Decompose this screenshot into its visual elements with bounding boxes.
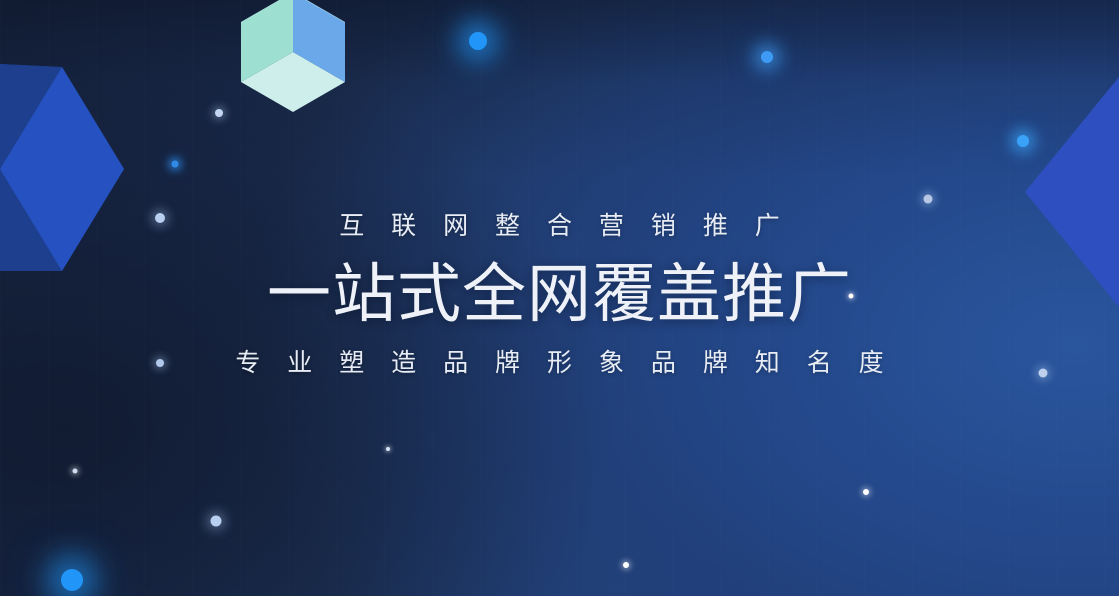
hero-eyebrow-text: 互 联 网 整 合 营 销 推 广: [0, 214, 1119, 239]
page-title: 一站式全网覆盖推广: [0, 259, 1119, 331]
hero-banner: 互 联 网 整 合 营 销 推 广 一站式全网覆盖推广 专 业 塑 造 品 牌 …: [0, 0, 1119, 596]
hero-copy-block: 互 联 网 整 合 营 销 推 广 一站式全网覆盖推广 专 业 塑 造 品 牌 …: [0, 214, 1119, 376]
hero-subtitle-text: 专 业 塑 造 品 牌 形 象 品 牌 知 名 度: [0, 351, 1119, 376]
isometric-cube-logo: [240, 0, 346, 117]
